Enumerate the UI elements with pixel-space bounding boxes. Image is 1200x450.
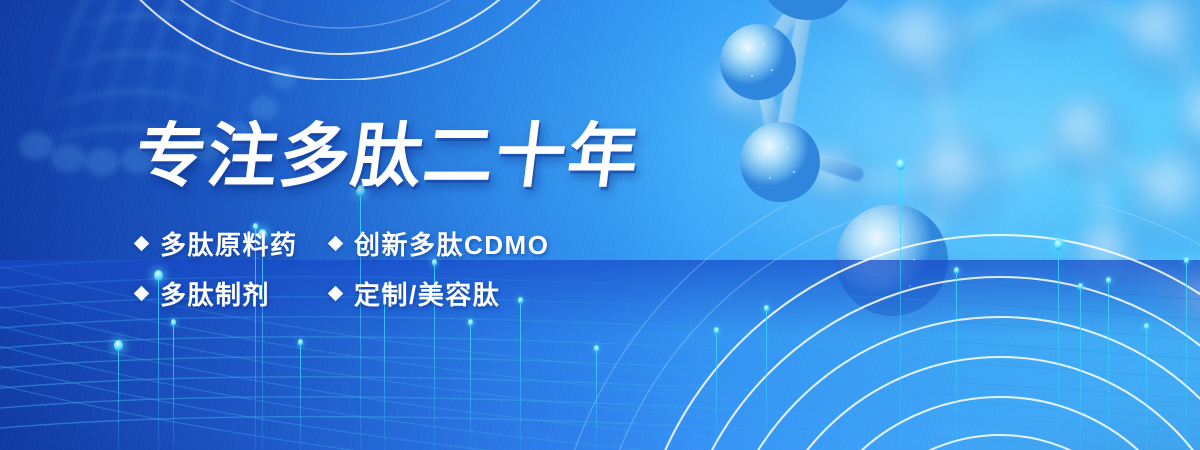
feature-item-peptide-formulation: 多肽制剂 — [136, 275, 330, 312]
feature-item-custom-cosmetic-peptide: 定制/美容肽 — [330, 275, 500, 312]
diamond-bullet-icon — [134, 235, 150, 251]
promo-banner: 专注多肽二十年 多肽原料药 创新多肽CDMO 多肽制剂 — [0, 0, 1200, 450]
feature-row: 多肽原料药 创新多肽CDMO — [136, 218, 656, 268]
feature-item-peptide-api: 多肽原料药 — [136, 225, 330, 262]
feature-label: 创新多肽CDMO — [354, 225, 549, 262]
feature-label: 多肽原料药 — [160, 225, 298, 262]
feature-label: 定制/美容肽 — [354, 275, 500, 312]
feature-list: 多肽原料药 创新多肽CDMO 多肽制剂 定制/美容肽 — [136, 218, 656, 318]
feature-row: 多肽制剂 定制/美容肽 — [136, 268, 656, 318]
banner-headline: 专注多肽二十年 — [131, 118, 644, 194]
banner-content: 专注多肽二十年 多肽原料药 创新多肽CDMO 多肽制剂 — [0, 0, 1200, 450]
diamond-bullet-icon — [328, 235, 344, 251]
feature-item-peptide-cdmo: 创新多肽CDMO — [330, 225, 549, 262]
diamond-bullet-icon — [134, 285, 150, 301]
feature-label: 多肽制剂 — [160, 275, 270, 312]
diamond-bullet-icon — [328, 285, 344, 301]
